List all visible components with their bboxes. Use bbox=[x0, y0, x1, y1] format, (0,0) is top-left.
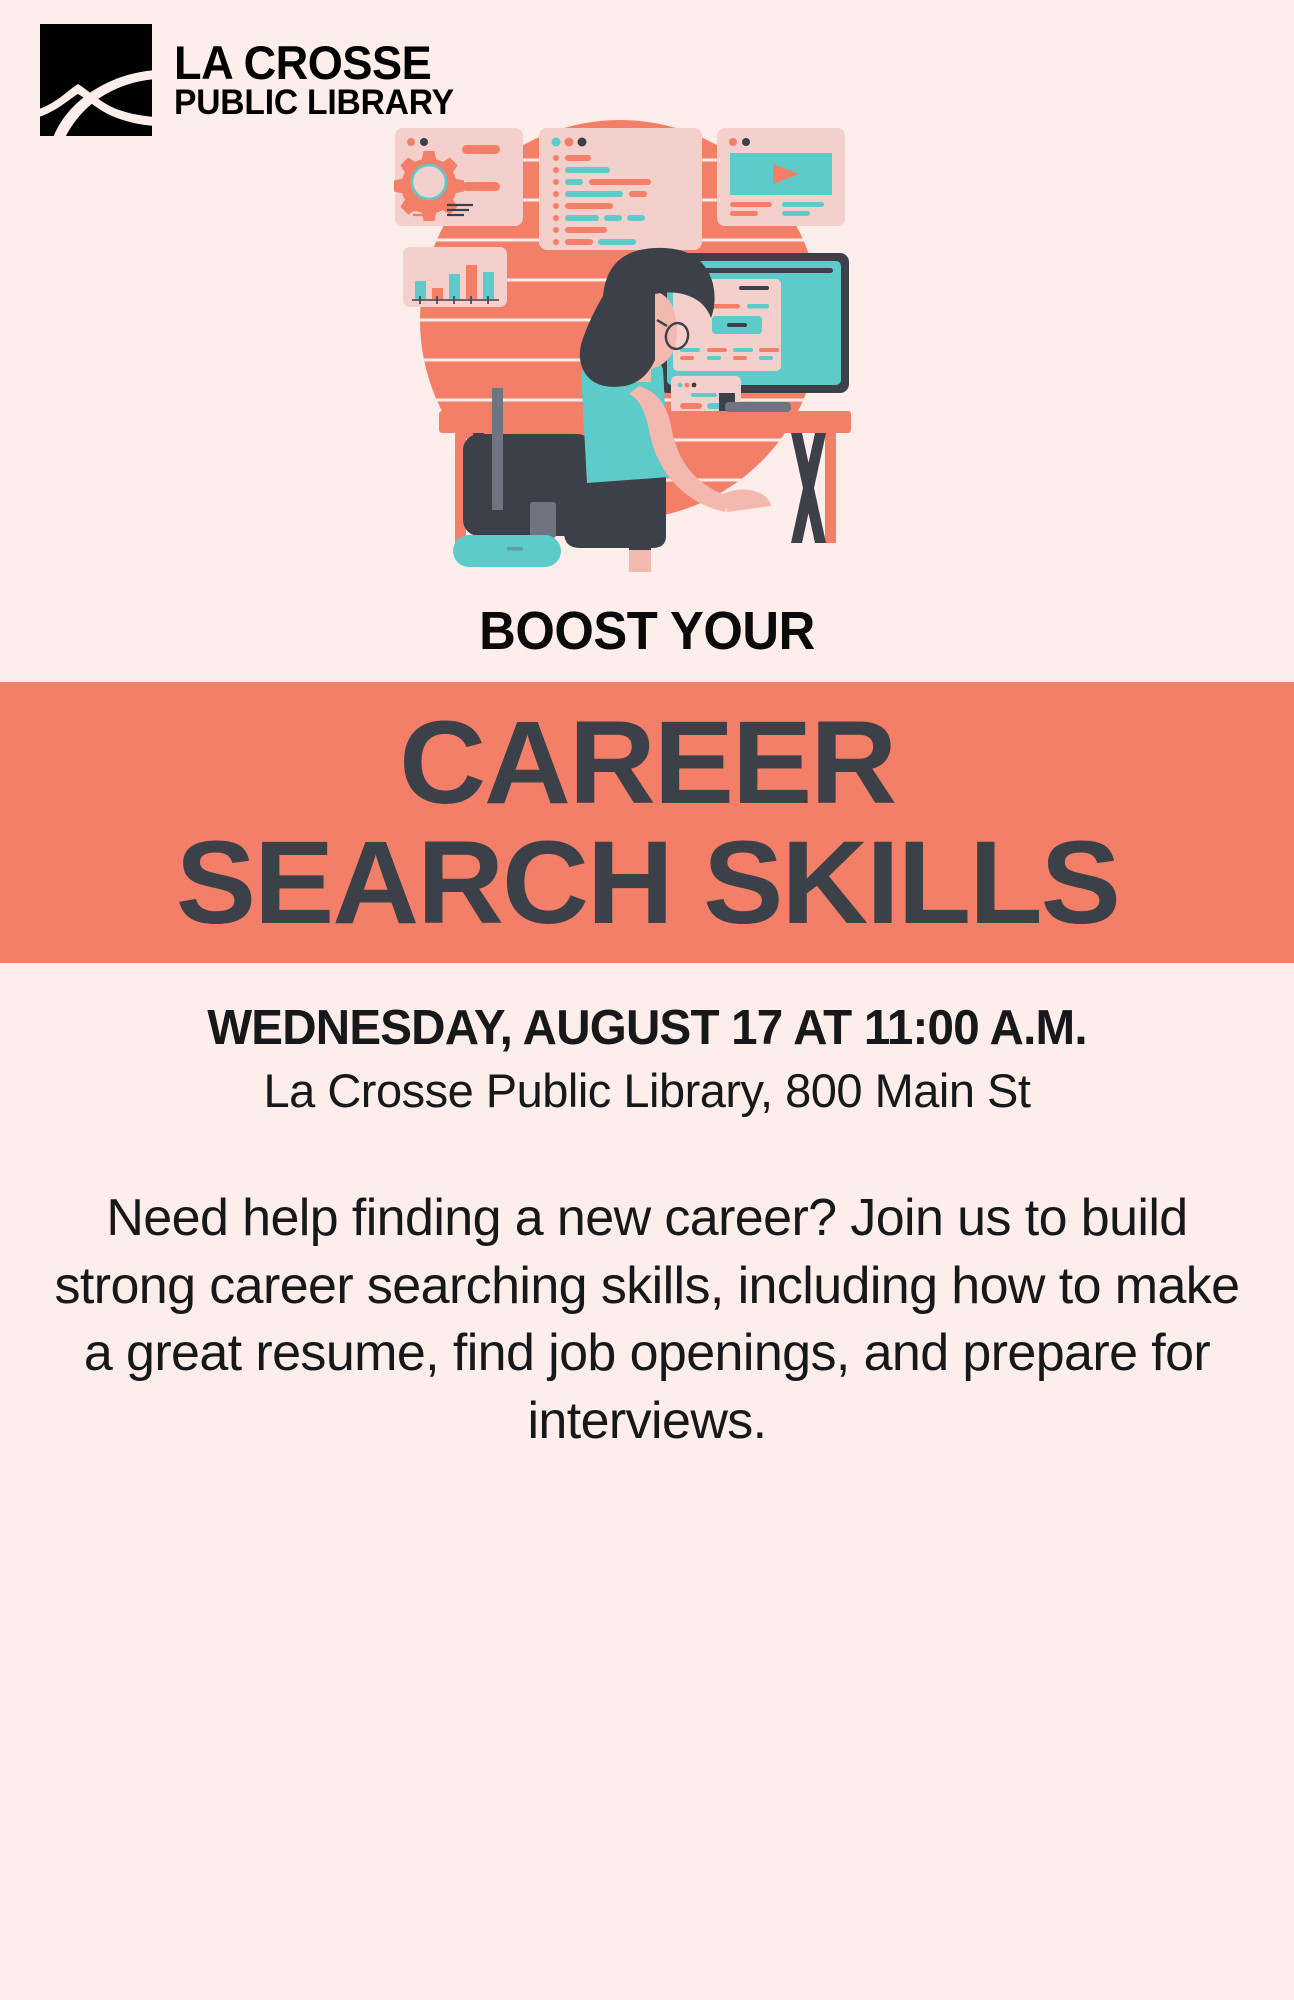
video-player-card bbox=[717, 128, 845, 226]
card-dot-dark bbox=[742, 138, 750, 146]
event-poster: LA CROSSE PUBLIC LIBRARY bbox=[0, 0, 1294, 2000]
keyboard bbox=[725, 402, 791, 412]
event-location: La Crosse Public Library, 800 Main St bbox=[0, 1063, 1294, 1118]
card-dot-red bbox=[565, 138, 574, 147]
bar-chart-card bbox=[403, 247, 507, 307]
card-dot-teal bbox=[552, 138, 561, 147]
logo-line-2: PUBLIC LIBRARY bbox=[174, 87, 454, 120]
title-banner: CAREER SEARCH SKILLS bbox=[0, 682, 1294, 963]
kicker-text: BOOST YOUR bbox=[39, 600, 1255, 662]
title-line-1: CAREER bbox=[399, 704, 895, 822]
card-dot-dark bbox=[578, 138, 587, 147]
card-text-bar bbox=[462, 182, 500, 191]
woman-at-computer-desk-illustration bbox=[367, 120, 927, 580]
title-line-2: SEARCH SKILLS bbox=[175, 824, 1118, 942]
event-date: WEDNESDAY, AUGUST 17 AT 11:00 A.M. bbox=[19, 1000, 1274, 1056]
card-dot-dark bbox=[420, 138, 428, 146]
card-dot-red bbox=[729, 138, 737, 146]
event-description: Need help finding a new career? Join us … bbox=[40, 1185, 1254, 1455]
card-text-bar bbox=[462, 145, 500, 154]
card-dot-red bbox=[407, 138, 415, 146]
settings-gear-card bbox=[394, 128, 523, 226]
code-lines-card bbox=[539, 128, 702, 250]
illustration-container bbox=[0, 120, 1294, 590]
logo-wordmark: LA CROSSE PUBLIC LIBRARY bbox=[174, 41, 465, 119]
logo-line-1: LA CROSSE bbox=[174, 41, 454, 85]
